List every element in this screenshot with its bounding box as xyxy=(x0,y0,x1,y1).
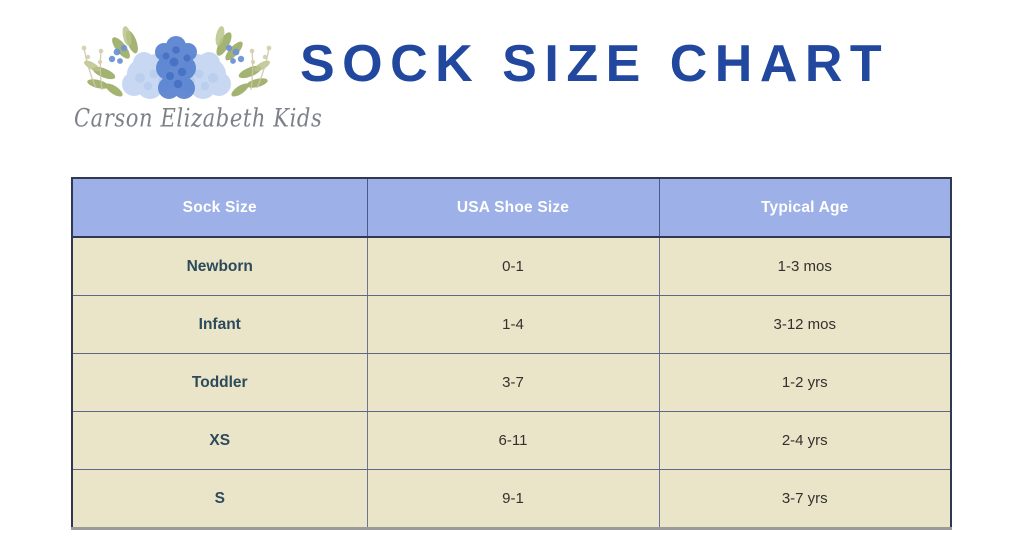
cell-typical-age: 1-3 mos xyxy=(659,237,951,296)
brand-name: Carson Elizabeth Kids xyxy=(74,104,279,132)
hydrangea-bouquet-icon xyxy=(74,18,279,106)
table-header-row: Sock Size USA Shoe Size Typical Age xyxy=(72,178,951,237)
cell-typical-age: 3-12 mos xyxy=(659,296,951,354)
cell-usa-shoe-size: 9-1 xyxy=(367,470,659,529)
sock-size-table-container: Sock Size USA Shoe Size Typical Age Newb… xyxy=(71,177,950,530)
cell-typical-age: 1-2 yrs xyxy=(659,354,951,412)
cell-sock-size: Newborn xyxy=(72,237,367,296)
table-row: S 9-1 3-7 yrs xyxy=(72,470,951,529)
page-header: Carson Elizabeth Kids SOCK SIZE CHART xyxy=(0,0,1024,160)
table-row: Toddler 3-7 1-2 yrs xyxy=(72,354,951,412)
cell-typical-age: 2-4 yrs xyxy=(659,412,951,470)
table-row: Infant 1-4 3-12 mos xyxy=(72,296,951,354)
cell-sock-size: XS xyxy=(72,412,367,470)
cell-usa-shoe-size: 3-7 xyxy=(367,354,659,412)
cell-sock-size: S xyxy=(72,470,367,529)
cell-typical-age: 3-7 yrs xyxy=(659,470,951,529)
cell-usa-shoe-size: 1-4 xyxy=(367,296,659,354)
cell-sock-size: Infant xyxy=(72,296,367,354)
column-header-sock-size: Sock Size xyxy=(72,178,367,237)
cell-usa-shoe-size: 6-11 xyxy=(367,412,659,470)
page-title: SOCK SIZE CHART xyxy=(300,34,960,94)
brand-logo: Carson Elizabeth Kids xyxy=(74,18,279,143)
table-row: Newborn 0-1 1-3 mos xyxy=(72,237,951,296)
cell-usa-shoe-size: 0-1 xyxy=(367,237,659,296)
column-header-typical-age: Typical Age xyxy=(659,178,951,237)
table-row: XS 6-11 2-4 yrs xyxy=(72,412,951,470)
cell-sock-size: Toddler xyxy=(72,354,367,412)
column-header-usa-shoe-size: USA Shoe Size xyxy=(367,178,659,237)
sock-size-table: Sock Size USA Shoe Size Typical Age Newb… xyxy=(71,177,952,530)
